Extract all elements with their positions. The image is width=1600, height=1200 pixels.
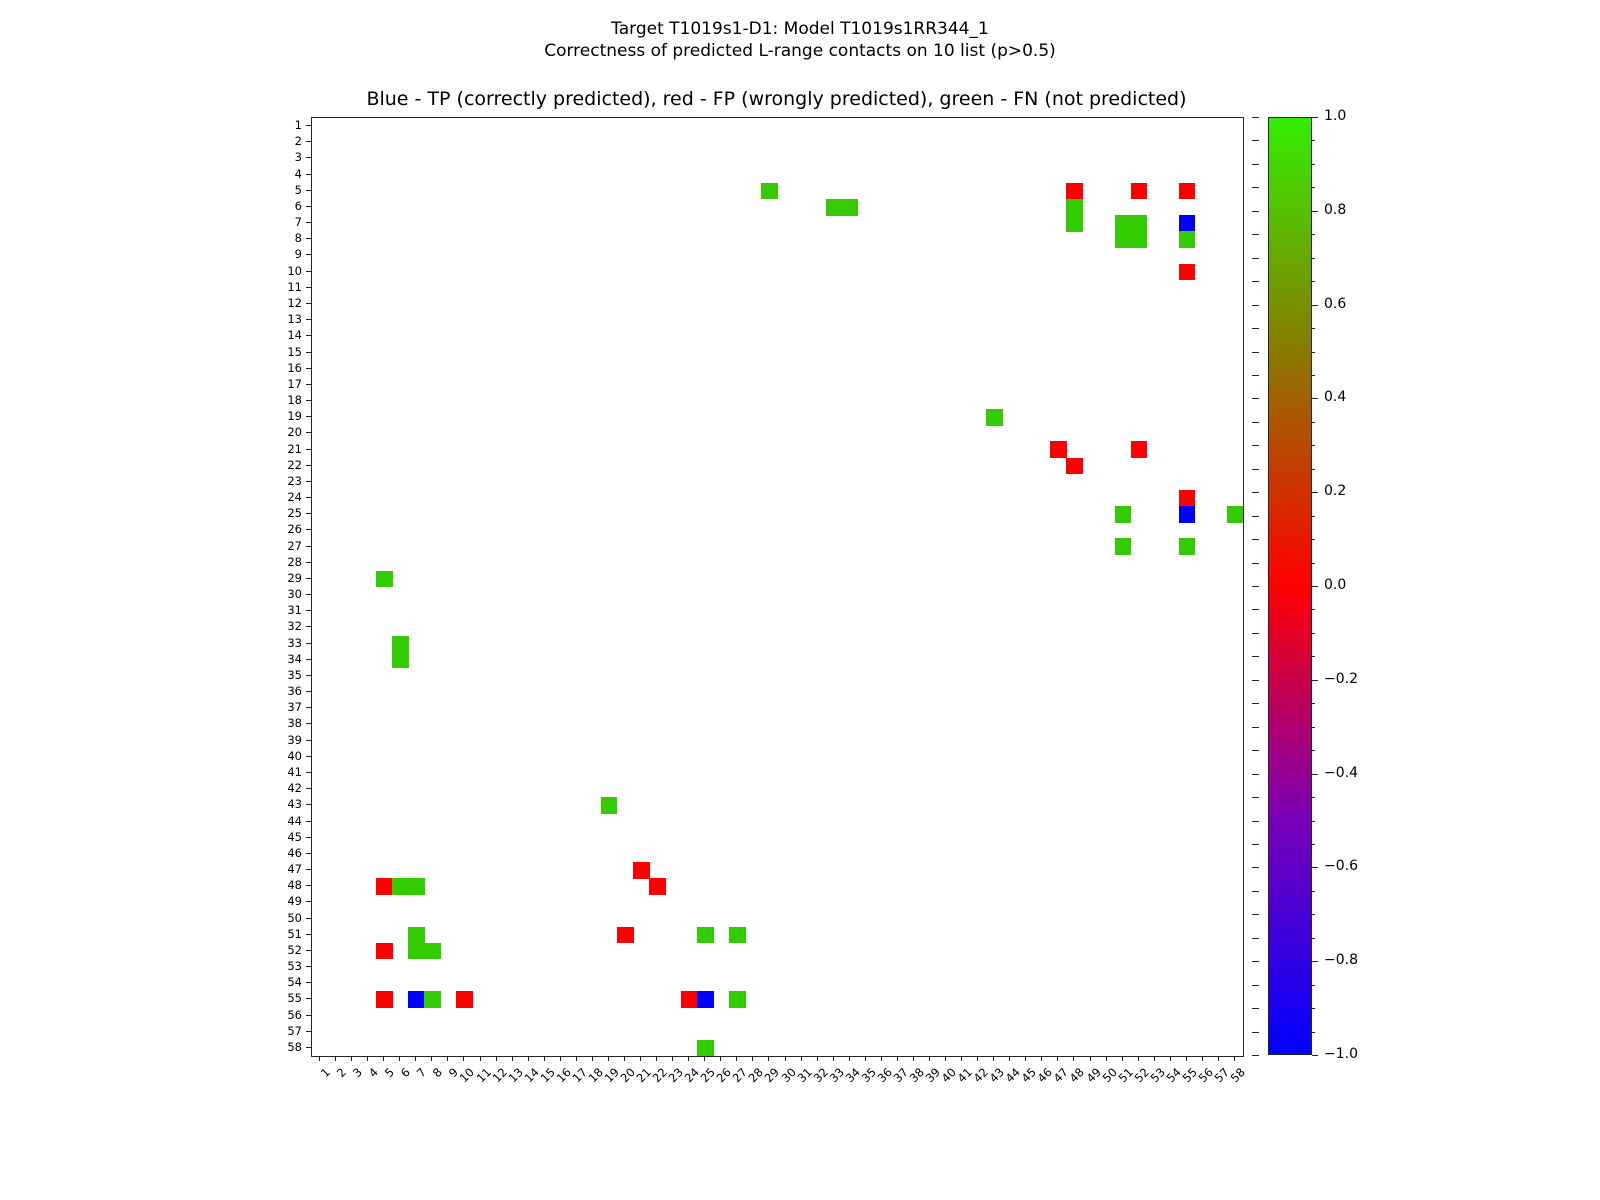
y-tick-label-10: 10 [0,264,302,278]
y-tick-label-11: 11 [0,280,302,294]
contact-cell-fn-x55-y8 [1179,231,1196,248]
y-tick-label-39: 39 [0,733,302,747]
x-tick-mark [833,1056,834,1061]
contact-cell-fn-x8-y52 [424,943,441,960]
colorbar-minor-tick [1312,938,1315,939]
colorbar-outer-minor-tick [1252,680,1259,681]
y-tick-label-44: 44 [0,814,302,828]
contact-cell-fn-x58-y25 [1227,506,1244,523]
colorbar-minor-tick [1312,703,1315,704]
colorbar-minor-tick [1312,891,1315,892]
x-tick-mark [1218,1056,1219,1061]
x-tick-mark [640,1056,641,1061]
y-tick-label-26: 26 [0,522,302,536]
colorbar-outer-minor-tick [1252,961,1259,962]
y-tick-label-42: 42 [0,781,302,795]
y-tick-label-54: 54 [0,975,302,989]
colorbar-outer-minor-tick [1252,985,1259,986]
colorbar-outer-minor-tick [1252,516,1259,517]
x-tick-mark [544,1056,545,1061]
y-tick-label-27: 27 [0,539,302,553]
contact-cell-fn-x25-y58 [697,1040,714,1057]
colorbar-minor-tick [1312,234,1315,235]
figure-title-line-1: Target T1019s1-D1: Model T1019s1RR344_1 [0,18,1600,40]
y-tick-label-17: 17 [0,377,302,391]
y-tick-label-41: 41 [0,765,302,779]
colorbar-tick-label-0: 1.0 [1324,108,1346,124]
y-tick-label-31: 31 [0,603,302,617]
contact-cell-fp-x52-y5 [1131,183,1148,200]
colorbar-tick-mark [1312,586,1318,587]
contact-cell-fp-x55-y10 [1179,264,1196,281]
y-tick-label-25: 25 [0,506,302,520]
colorbar-outer-minor-tick [1252,609,1259,610]
colorbar-minor-tick [1312,633,1315,634]
contact-cell-fn-x7-y52 [408,943,425,960]
colorbar-outer-minor-tick [1252,492,1259,493]
colorbar-minor-tick [1312,258,1315,259]
x-tick-mark [1138,1056,1139,1061]
colorbar-minor-tick [1312,539,1315,540]
x-tick-mark [1090,1056,1091,1061]
colorbar-minor-tick [1312,844,1315,845]
y-tick-label-15: 15 [0,345,302,359]
x-tick-mark [528,1056,529,1061]
x-tick-mark [977,1056,978,1061]
contact-cell-fp-x48-y5 [1066,183,1083,200]
contact-cell-fn-x48-y7 [1066,215,1083,232]
x-tick-mark [961,1056,962,1061]
contact-cell-fn-x51-y27 [1115,538,1132,555]
colorbar-tick-label-3: 0.4 [1324,389,1346,405]
contact-map-plot[interactable] [311,117,1244,1057]
x-tick-mark [720,1056,721,1061]
x-tick-mark [865,1056,866,1061]
colorbar-tick-label-5: 0.0 [1324,577,1346,593]
colorbar-outer-minor-tick [1252,305,1259,306]
colorbar-gradient [1268,117,1312,1055]
colorbar-tick-label-1: 0.8 [1324,202,1346,218]
colorbar-tick-mark [1312,867,1318,868]
contact-cell-fn-x33-y6 [826,199,843,216]
colorbar-minor-tick [1312,821,1315,822]
colorbar-outer-minor-tick [1252,821,1259,822]
x-tick-mark [624,1056,625,1061]
colorbar-tick-mark [1312,211,1318,212]
colorbar-minor-tick [1312,281,1315,282]
colorbar-outer-minor-tick [1252,844,1259,845]
x-tick-mark [415,1056,416,1061]
contact-cell-fp-x5-y48 [376,878,393,895]
colorbar-minor-tick [1312,516,1315,517]
y-tick-label-43: 43 [0,797,302,811]
x-tick-mark [383,1056,384,1061]
colorbar-minor-tick [1312,187,1315,188]
x-tick-mark [768,1056,769,1061]
colorbar-minor-tick [1312,445,1315,446]
colorbar-tick-mark [1312,305,1318,306]
x-tick-mark [1170,1056,1171,1061]
contact-cell-fn-x27-y55 [729,991,746,1008]
colorbar-minor-tick [1312,656,1315,657]
contact-cell-fp-x24-y55 [681,991,698,1008]
x-tick-mark [1106,1056,1107,1061]
colorbar-outer-minor-tick [1252,1055,1259,1056]
contact-cell-fn-x6-y33 [392,636,409,653]
contact-cell-fn-x19-y43 [601,797,618,814]
colorbar-outer-minor-tick [1252,703,1259,704]
contact-cell-fn-x29-y5 [761,183,778,200]
y-tick-label-8: 8 [0,231,302,245]
y-tick-label-34: 34 [0,652,302,666]
y-tick-label-7: 7 [0,215,302,229]
colorbar-tick-mark [1312,961,1318,962]
colorbar-outer-minor-tick [1252,375,1259,376]
y-tick-label-51: 51 [0,927,302,941]
x-tick-mark [399,1056,400,1061]
colorbar-outer-minor-tick [1252,797,1259,798]
y-tick-label-9: 9 [0,247,302,261]
legend-description: Blue - TP (correctly predicted), red - F… [311,88,1242,110]
colorbar-outer-minor-tick [1252,398,1259,399]
colorbar-outer-minor-tick [1252,656,1259,657]
y-tick-label-38: 38 [0,716,302,730]
figure-root: Target T1019s1-D1: Model T1019s1RR344_1 … [0,0,1600,1200]
colorbar-outer-minor-tick [1252,140,1259,141]
colorbar-tick-mark [1312,398,1318,399]
y-tick-label-14: 14 [0,328,302,342]
y-tick-label-18: 18 [0,393,302,407]
colorbar[interactable]: 1.00.80.60.40.20.0−0.2−0.4−0.6−0.8−1.0 [1268,117,1568,1055]
x-tick-mark [431,1056,432,1061]
y-axis: 1234567891011121314151617181920212223242… [0,117,311,1057]
x-tick-mark [351,1056,352,1061]
colorbar-minor-tick [1312,164,1315,165]
colorbar-outer-minor-tick [1252,774,1259,775]
contact-cell-fn-x52-y8 [1131,231,1148,248]
y-tick-label-2: 2 [0,134,302,148]
contact-cell-fn-x55-y27 [1179,538,1196,555]
figure-title-line-2: Correctness of predicted L-range contact… [0,40,1600,62]
x-tick-mark [736,1056,737,1061]
y-tick-label-58: 58 [0,1040,302,1054]
colorbar-tick-label-2: 0.6 [1324,296,1346,312]
colorbar-outer-minor-tick [1252,539,1259,540]
contact-cell-fn-x48-y6 [1066,199,1083,216]
y-tick-label-57: 57 [0,1024,302,1038]
contact-cell-fn-x51-y25 [1115,506,1132,523]
contact-cell-fn-x43-y19 [986,409,1003,426]
x-tick-mark [1057,1056,1058,1061]
y-tick-label-22: 22 [0,458,302,472]
x-tick-mark [576,1056,577,1061]
contact-cell-fp-x5-y55 [376,991,393,1008]
colorbar-outer-minor-tick [1252,633,1259,634]
x-tick-mark [704,1056,705,1061]
x-tick-mark [801,1056,802,1061]
x-tick-mark [688,1056,689,1061]
colorbar-tick-label-7: −0.4 [1324,765,1358,781]
y-tick-label-6: 6 [0,199,302,213]
contact-cell-fp-x10-y55 [456,991,473,1008]
y-tick-label-20: 20 [0,425,302,439]
colorbar-minor-tick [1312,1032,1315,1033]
contact-cell-layer [312,118,1243,1056]
contact-cell-fn-x6-y34 [392,652,409,669]
colorbar-tick-mark [1312,117,1318,118]
contact-cell-fn-x34-y6 [842,199,859,216]
y-tick-label-48: 48 [0,878,302,892]
contact-cell-fn-x7-y48 [408,878,425,895]
y-tick-label-49: 49 [0,894,302,908]
contact-cell-tp-x25-y55 [697,991,714,1008]
colorbar-outer-minor-tick [1252,352,1259,353]
colorbar-minor-tick [1312,985,1315,986]
y-tick-label-4: 4 [0,167,302,181]
contact-cell-fn-x8-y55 [424,991,441,1008]
y-tick-label-47: 47 [0,862,302,876]
colorbar-outer-minor-tick [1252,563,1259,564]
colorbar-minor-tick [1312,140,1315,141]
colorbar-tick-label-6: −0.2 [1324,671,1358,687]
colorbar-outer-minor-tick [1252,117,1259,118]
x-tick-mark [319,1056,320,1061]
contact-cell-fp-x48-y22 [1066,458,1083,475]
colorbar-outer-minor-tick [1252,281,1259,282]
y-tick-label-28: 28 [0,555,302,569]
y-tick-label-29: 29 [0,571,302,585]
contact-cell-tp-x55-y7 [1179,215,1196,232]
x-tick-mark [881,1056,882,1061]
colorbar-minor-tick [1312,727,1315,728]
x-tick-mark [817,1056,818,1061]
colorbar-minor-tick [1312,469,1315,470]
contact-cell-fp-x55-y5 [1179,183,1196,200]
colorbar-outer-minor-tick [1252,938,1259,939]
contact-cell-fn-x51-y8 [1115,231,1132,248]
colorbar-tick-label-8: −0.6 [1324,858,1358,874]
contact-cell-fn-x5-y29 [376,571,393,588]
colorbar-minor-tick [1312,422,1315,423]
y-tick-label-53: 53 [0,959,302,973]
x-tick-mark [512,1056,513,1061]
y-tick-label-24: 24 [0,490,302,504]
x-tick-mark [1009,1056,1010,1061]
colorbar-minor-tick [1312,352,1315,353]
y-tick-label-23: 23 [0,474,302,488]
contact-cell-fp-x52-y21 [1131,441,1148,458]
y-tick-label-56: 56 [0,1008,302,1022]
x-tick-mark [1041,1056,1042,1061]
x-tick-mark [463,1056,464,1061]
y-tick-label-40: 40 [0,749,302,763]
x-tick-mark [608,1056,609,1061]
contact-cell-fn-x52-y7 [1131,215,1148,232]
contact-cell-fp-x21-y47 [633,862,650,879]
colorbar-outer-minor-tick [1252,328,1259,329]
x-tick-mark [335,1056,336,1061]
x-tick-mark [1186,1056,1187,1061]
colorbar-outer-minor-tick [1252,914,1259,915]
colorbar-minor-tick [1312,563,1315,564]
colorbar-tick-mark [1312,774,1318,775]
colorbar-minor-tick [1312,328,1315,329]
colorbar-tick-mark [1312,492,1318,493]
colorbar-outer-minor-tick [1252,469,1259,470]
contact-cell-fp-x22-y48 [649,878,666,895]
x-tick-mark [1234,1056,1235,1061]
x-tick-mark [785,1056,786,1061]
x-tick-mark [1073,1056,1074,1061]
y-tick-label-12: 12 [0,296,302,310]
colorbar-minor-tick [1312,750,1315,751]
y-tick-label-32: 32 [0,619,302,633]
x-tick-mark [993,1056,994,1061]
contact-cell-fn-x51-y7 [1115,215,1132,232]
y-tick-label-46: 46 [0,846,302,860]
y-tick-label-45: 45 [0,830,302,844]
x-tick-mark [929,1056,930,1061]
colorbar-outer-minor-tick [1252,187,1259,188]
contact-cell-fn-x27-y51 [729,927,746,944]
colorbar-outer-minor-tick [1252,727,1259,728]
colorbar-outer-minor-tick [1252,164,1259,165]
colorbar-outer-minor-tick [1252,750,1259,751]
contact-cell-fp-x47-y21 [1050,441,1067,458]
colorbar-outer-minor-tick [1252,891,1259,892]
colorbar-outer-minor-tick [1252,586,1259,587]
colorbar-tick-label-9: −0.8 [1324,952,1358,968]
colorbar-minor-tick [1312,1008,1315,1009]
colorbar-tick-label-10: −1.0 [1324,1046,1358,1062]
colorbar-outer-minor-tick [1252,422,1259,423]
colorbar-minor-tick [1312,914,1315,915]
contact-cell-fn-x6-y48 [392,878,409,895]
y-tick-label-37: 37 [0,700,302,714]
colorbar-outer-minor-tick [1252,1032,1259,1033]
contact-cell-fn-x7-y51 [408,927,425,944]
y-tick-label-52: 52 [0,943,302,957]
x-tick-mark [897,1056,898,1061]
colorbar-outer-minor-tick [1252,445,1259,446]
y-tick-label-33: 33 [0,636,302,650]
x-tick-mark [752,1056,753,1061]
x-tick-mark [447,1056,448,1061]
y-tick-label-21: 21 [0,442,302,456]
colorbar-outer-minor-tick [1252,1008,1259,1009]
x-tick-mark [913,1056,914,1061]
colorbar-tick-label-4: 0.2 [1324,483,1346,499]
contact-cell-tp-x55-y25 [1179,506,1196,523]
x-tick-mark [656,1056,657,1061]
y-tick-label-1: 1 [0,118,302,132]
colorbar-tick-mark [1312,680,1318,681]
x-tick-mark [560,1056,561,1061]
y-tick-label-55: 55 [0,991,302,1005]
x-tick-mark [480,1056,481,1061]
y-tick-label-50: 50 [0,911,302,925]
x-tick-mark [1202,1056,1203,1061]
colorbar-tick-mark [1312,1055,1318,1056]
x-tick-mark [1025,1056,1026,1061]
colorbar-minor-tick [1312,797,1315,798]
y-tick-label-36: 36 [0,684,302,698]
y-tick-label-5: 5 [0,183,302,197]
contact-cell-fp-x55-y24 [1179,490,1196,507]
colorbar-outer-minor-tick [1252,211,1259,212]
x-tick-mark [945,1056,946,1061]
y-tick-label-35: 35 [0,668,302,682]
x-tick-mark [849,1056,850,1061]
x-tick-mark [1122,1056,1123,1061]
x-tick-mark [672,1056,673,1061]
colorbar-outer-minor-tick [1252,258,1259,259]
colorbar-outer-minor-tick [1252,234,1259,235]
x-tick-mark [496,1056,497,1061]
contact-cell-fp-x5-y52 [376,943,393,960]
colorbar-minor-tick [1312,609,1315,610]
colorbar-minor-tick [1312,375,1315,376]
figure-title: Target T1019s1-D1: Model T1019s1RR344_1 … [0,18,1600,62]
x-tick-mark [592,1056,593,1061]
y-tick-label-30: 30 [0,587,302,601]
contact-cell-fn-x25-y51 [697,927,714,944]
x-tick-mark [367,1056,368,1061]
y-tick-label-13: 13 [0,312,302,326]
y-tick-label-19: 19 [0,409,302,423]
y-tick-label-16: 16 [0,361,302,375]
y-tick-label-3: 3 [0,150,302,164]
contact-cell-tp-x7-y55 [408,991,425,1008]
x-axis: 1234567891011121314151617181920212223242… [311,1056,1271,1176]
contact-cell-fp-x20-y51 [617,927,634,944]
colorbar-outer-minor-tick [1252,867,1259,868]
x-tick-mark [1154,1056,1155,1061]
